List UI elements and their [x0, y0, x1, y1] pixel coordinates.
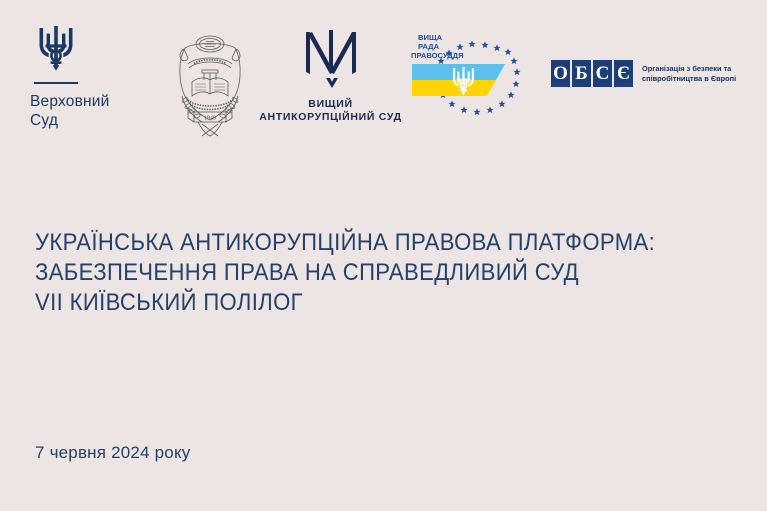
event-title: УКРАЇНСЬКА АНТИКОРУПЦІЙНА ПРАВОВА ПЛАТФО…	[35, 228, 735, 318]
title-line-2: ЗАБЕЗПЕЧЕННЯ ПРАВА НА СПРАВЕДЛИВИЙ СУД	[35, 258, 679, 288]
osce-letter-b: Б	[572, 60, 591, 87]
hacc-monogram-icon	[286, 28, 376, 90]
ukrainian-trident-icon	[34, 24, 78, 72]
hacc-name-line-1: ВИЩИЙ	[258, 98, 403, 111]
event-date: 7 червня 2024 року	[35, 443, 190, 463]
supreme-court-name: Верховний Суд	[30, 92, 150, 130]
osce-letter-ye: Є	[614, 60, 633, 87]
slide-root: Верховний Суд	[0, 0, 767, 511]
osce-letter-o: О	[551, 60, 570, 87]
supreme-court-name-line-1: Верховний	[30, 92, 150, 111]
hacc-name-line-2: АНТИКОРУПЦІЙНИЙ СУД	[258, 111, 403, 124]
osce-letter-s: С	[593, 60, 612, 87]
ukraine-flag-stars-icon: ВИЩА РАДА ПРАВОСУДДЯ	[408, 28, 528, 133]
logo-supreme-court: Верховний Суд	[30, 24, 150, 130]
osce-subtitle-line-1: Організація з безпеки та	[642, 64, 736, 74]
osce-subtitle-line-2: співробітництва в Європі	[642, 74, 736, 84]
logo-high-council-of-justice: ВИЩА РАДА ПРАВОСУДДЯ	[408, 28, 528, 133]
logo-osce: О Б С Є Організація з безпеки та співроб…	[551, 60, 746, 98]
logo-koretsky-institute: 1949	[168, 26, 252, 140]
divider-line	[34, 82, 78, 84]
title-line-3: VII КИЇВСЬКИЙ ПОЛІЛОГ	[35, 288, 679, 318]
title-line-1: УКРАЇНСЬКА АНТИКОРУПЦІЙНА ПРАВОВА ПЛАТФО…	[35, 228, 679, 258]
institute-crest-icon: 1949	[168, 26, 252, 140]
hcj-name-line-1: ВИЩА	[418, 33, 443, 42]
logo-high-anticorruption-court: ВИЩИЙ АНТИКОРУПЦІЙНИЙ СУД	[258, 28, 403, 124]
hcj-name-line-2: РАДА	[418, 42, 440, 51]
osce-subtitle: Організація з безпеки та співробітництва…	[642, 64, 736, 83]
partner-logo-strip: Верховний Суд	[0, 0, 767, 160]
institute-year: 1949	[204, 116, 216, 122]
hcj-name-line-3: ПРАВОСУДДЯ	[411, 51, 464, 60]
supreme-court-name-line-2: Суд	[30, 111, 150, 130]
